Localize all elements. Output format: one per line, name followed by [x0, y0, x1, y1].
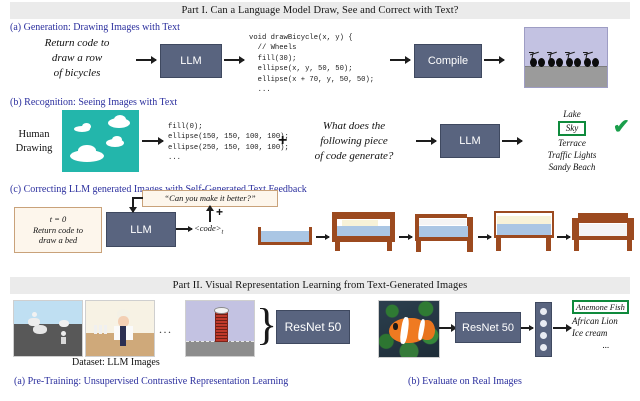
- check-mark-icon: ✔: [613, 117, 630, 137]
- initial-prompt-line: draw a bed: [39, 235, 77, 246]
- prediction-item: Traffic Lights: [524, 149, 620, 161]
- part2-prediction-list: Anemone Fish African Lion Ice cream ...: [572, 300, 640, 352]
- arrow-bed-4-5: [557, 236, 570, 238]
- bed-rendering-step-5: [572, 213, 634, 251]
- panel-b-question: What does the following piece of code ge…: [296, 119, 412, 164]
- panel-a-prompt-line3: of bicycles: [22, 66, 132, 81]
- arrow-resnet-to-features: [521, 327, 533, 329]
- chef-apron: [120, 326, 126, 346]
- llm-image-sailboat-scene: [13, 300, 83, 357]
- arrow-llm-to-code-c: [176, 228, 192, 230]
- arrow-llm-to-predictions-b: [502, 140, 522, 142]
- feature-unit: [540, 344, 547, 351]
- scene-ground: [14, 324, 82, 356]
- cloud-shape: [78, 145, 96, 156]
- prediction-item: Sandy Beach: [524, 161, 620, 173]
- panel-b-code: fill(0); ellipse(150, 150, 100, 100); el…: [168, 122, 289, 164]
- cloud-shape: [112, 136, 122, 143]
- prediction-item: Lake: [524, 108, 620, 120]
- resnet-box-pretrain: ResNet 50: [276, 310, 350, 344]
- code-subscript: t: [222, 229, 224, 236]
- arrow-question-to-llm-b: [416, 140, 436, 142]
- prediction-item: Ice cream: [572, 327, 640, 339]
- arrow-bed-2-3: [399, 236, 412, 238]
- prediction-item-highlighted: Anemone Fish: [572, 300, 640, 314]
- prediction-item: ...: [572, 339, 640, 351]
- part1-banner: Part I. Can a Language Model Draw, See a…: [10, 2, 630, 19]
- scene-ground: [186, 341, 254, 356]
- panel-b-question-line2: following piece: [296, 134, 412, 149]
- arrow-image-to-resnet: [439, 327, 456, 329]
- prediction-highlight-box: Anemone Fish: [572, 300, 629, 314]
- initial-prompt-line: Return code to: [33, 225, 83, 236]
- bottle-shape: [99, 325, 102, 334]
- row-of-bicycles-rendering: [524, 27, 608, 88]
- scene-shape: [61, 331, 66, 336]
- panel-b-caption: (b) Recognition: Seeing Images with Text: [10, 97, 177, 108]
- panel-b-input-label-line1: Human: [8, 128, 60, 142]
- fish-eye: [393, 323, 397, 329]
- scene-shape: [32, 312, 37, 317]
- part2-panel-b-caption: (b) Evaluate on Real Images: [408, 376, 522, 387]
- llm-box-c: LLM: [106, 212, 176, 247]
- cloud-shape: [82, 123, 91, 130]
- arrow-bed-3-4: [478, 236, 491, 238]
- part2-panel-a-caption: (a) Pre-Training: Unsupervised Contrasti…: [14, 376, 288, 387]
- compile-box: Compile: [414, 44, 482, 78]
- arrow-bed-1-2: [316, 236, 329, 238]
- resnet-box-eval: ResNet 50: [455, 312, 521, 343]
- panel-a-prompt: Return code to draw a row of bicycles: [22, 36, 132, 81]
- prediction-item: African Lion: [572, 315, 640, 327]
- feature-unit: [540, 320, 547, 327]
- bed-rendering-step-1: [258, 225, 312, 247]
- clownfish-photo: [378, 300, 440, 358]
- prediction-item: Terrace: [524, 137, 620, 149]
- panel-b-prediction-list: Lake Sky Terrace Traffic Lights Sandy Be…: [524, 108, 620, 173]
- feature-unit: [540, 332, 547, 339]
- panel-b-question-line3: of code generate?: [296, 149, 412, 164]
- scene-shape: [61, 337, 66, 344]
- arrow-prompt-to-llm-a: [136, 59, 156, 61]
- panel-c-initial-prompt-box: t = 0 Return code to draw a bed: [14, 207, 102, 253]
- arrow-llm-to-code-a: [224, 59, 244, 61]
- building-shape: [215, 311, 229, 342]
- llm-box-a: LLM: [160, 44, 222, 78]
- dataset-brace: }: [256, 303, 277, 347]
- panel-b-question-line1: What does the: [296, 119, 412, 134]
- panel-c-plus: +: [216, 205, 223, 219]
- clouds-teal-drawing: [62, 110, 139, 172]
- panel-a-caption: (a) Generation: Drawing Images with Text: [10, 22, 180, 33]
- arrow-code-to-compile: [390, 59, 410, 61]
- panel-b-plus: +: [278, 132, 287, 150]
- initial-prompt-line: t = 0: [50, 214, 67, 225]
- feature-vector: [535, 302, 552, 357]
- prediction-highlight-box: Sky: [558, 121, 587, 136]
- dataset-caption: Dataset: LLM Images: [72, 357, 160, 368]
- panel-b-input-label-line2: Drawing: [8, 142, 60, 156]
- panel-c-code-output: <code>t: [194, 223, 223, 236]
- arrow-features-to-predictions: [553, 327, 571, 329]
- bicycle-ground: [525, 66, 607, 87]
- panel-b-input-label: Human Drawing: [8, 128, 60, 156]
- scene-shape: [33, 325, 47, 334]
- panel-a-prompt-line2: draw a row: [22, 51, 132, 66]
- feature-unit: [540, 308, 547, 315]
- bed-rendering-step-2: [332, 212, 395, 252]
- bed-rendering-step-4: [494, 211, 554, 252]
- arrow-compile-to-image: [484, 59, 504, 61]
- part2-banner: Part II. Visual Representation Learning …: [10, 277, 630, 294]
- panel-a-code: void drawBicycle(x, y) { // Wheels fill(…: [249, 33, 374, 96]
- code-token: <code>: [194, 223, 222, 233]
- bed-rendering-step-3: [415, 214, 475, 252]
- figure-root: Part I. Can a Language Model Draw, See a…: [0, 0, 640, 401]
- prediction-item-highlighted: Sky: [524, 121, 620, 136]
- panel-a-prompt-line1: Return code to: [22, 36, 132, 51]
- arrow-code-to-feedback: [209, 206, 211, 222]
- llm-box-b: LLM: [440, 124, 500, 158]
- cloud-shape: [114, 115, 126, 124]
- llm-image-building-scene: [185, 300, 255, 357]
- scene-shape: [59, 320, 69, 327]
- arrow-feedback-to-llm: [132, 197, 134, 212]
- dataset-ellipsis: ...: [159, 322, 173, 337]
- bottle-shape: [94, 325, 97, 334]
- llm-image-chef-scene: [85, 300, 155, 357]
- bottle-shape: [104, 325, 107, 334]
- arrow-drawing-to-code: [142, 140, 163, 142]
